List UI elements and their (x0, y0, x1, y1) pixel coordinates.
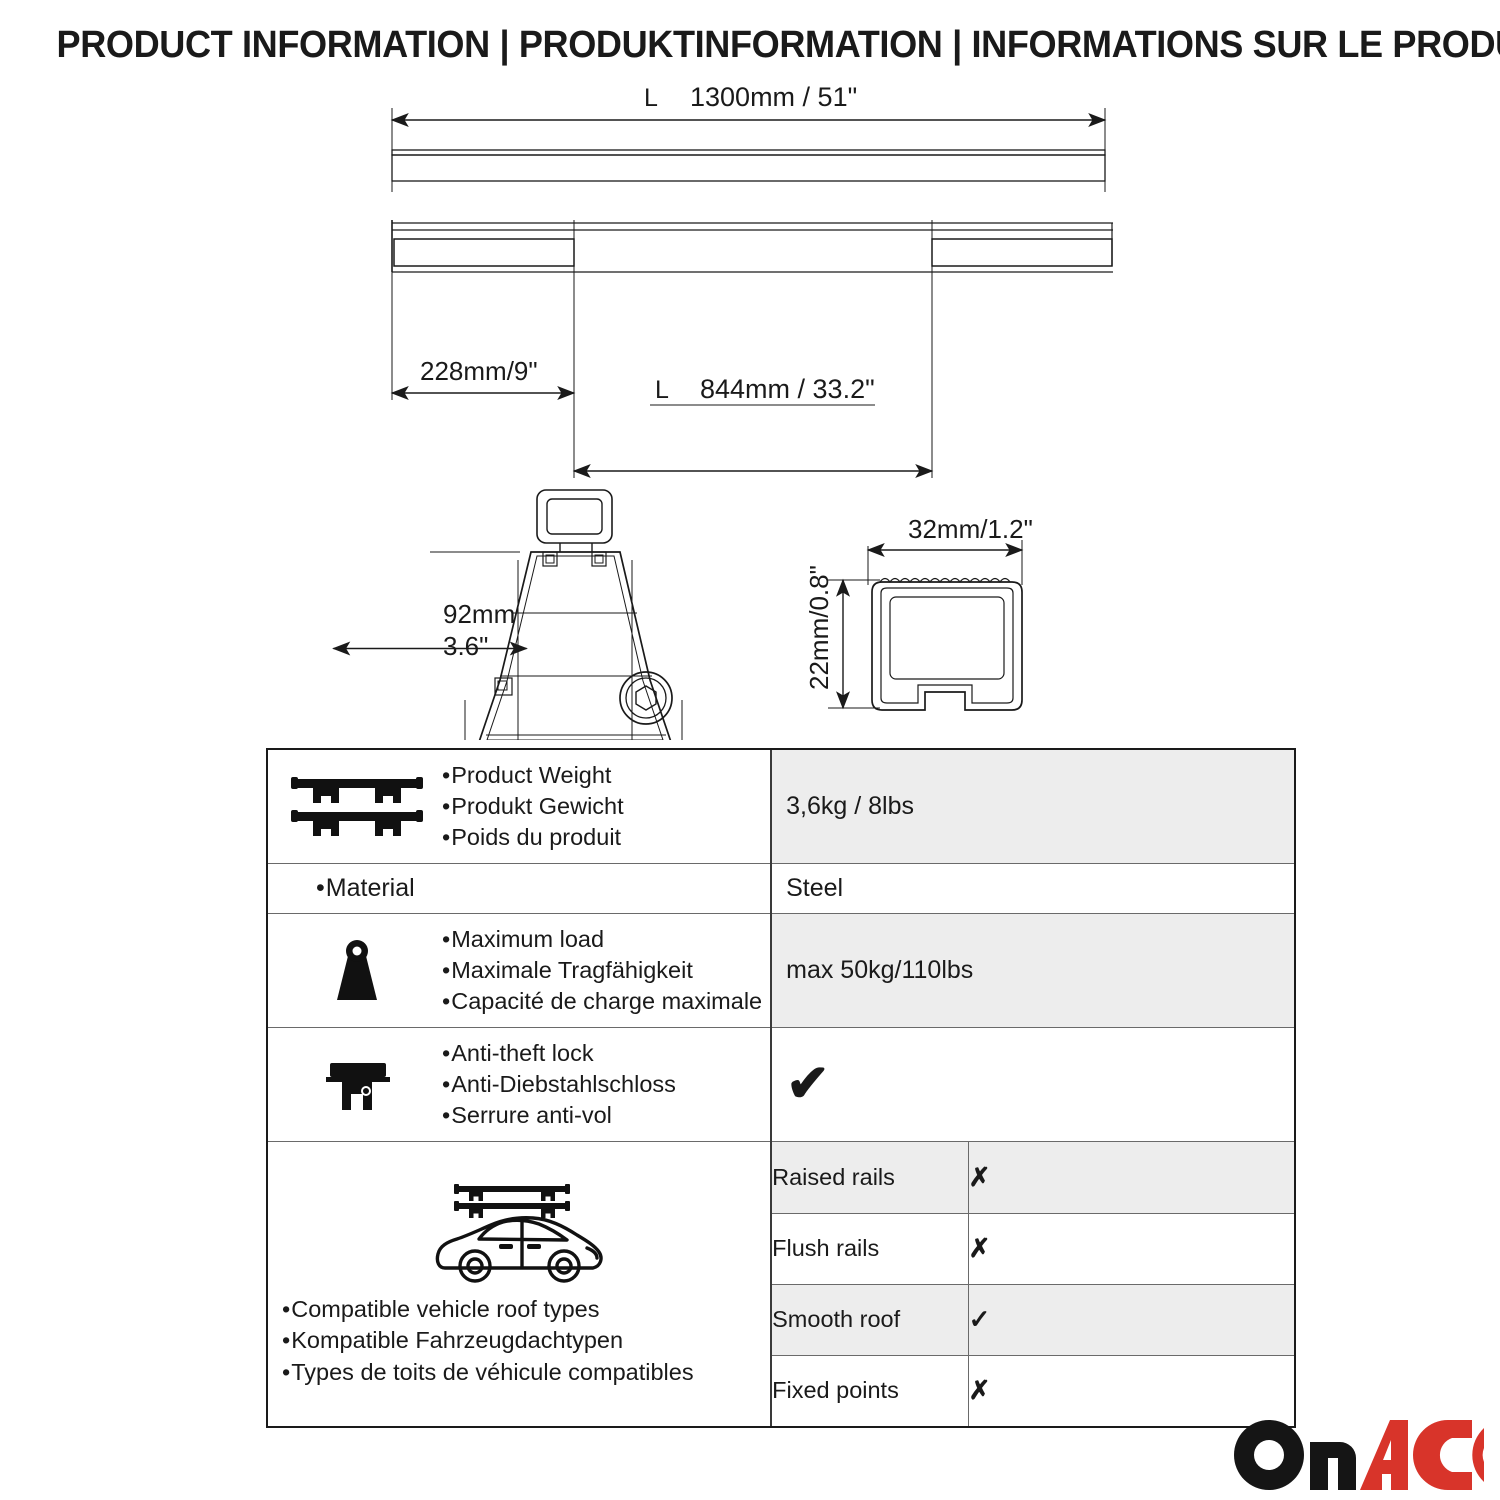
spec-value-maxload: max 50kg/110lbs (771, 914, 1294, 1028)
subtable-row: Raised rails ✗ (772, 1142, 1294, 1213)
subtable-row: Fixed points ✗ (772, 1355, 1294, 1426)
spec-label-fr: Poids du produit (442, 822, 624, 853)
lock-icon (282, 1057, 432, 1113)
spec-label-list-lock: Anti-theft lock Anti-Diebstahlschloss Se… (442, 1038, 676, 1131)
omac-logo-dark-part (1234, 1420, 1356, 1490)
spec-label-de: Produkt Gewicht (442, 791, 624, 822)
page-title-text: PRODUCT INFORMATION | PRODUKTINFORMATION… (57, 24, 1444, 67)
spec-label-cell-maxload: Maximum load Maximale Tragfähigkeit Capa… (268, 914, 771, 1028)
spec-value-weight: 3,6kg / 8lbs (771, 750, 1294, 864)
crossbars-icon (282, 775, 432, 839)
spec-label-fr: Serrure anti-vol (442, 1100, 676, 1131)
spec-label-fr: Capacité de charge maximale (442, 986, 762, 1017)
spec-label-list-maxload: Maximum load Maximale Tragfähigkeit Capa… (442, 924, 762, 1017)
foot-height-dim-line2: 3.6" (443, 631, 488, 661)
roof-type-name: Raised rails (772, 1142, 968, 1213)
specification-table: Product Weight Produkt Gewicht Poids du … (266, 748, 1296, 1428)
table-row: Compatible vehicle roof types Kompatible… (268, 1142, 1294, 1427)
roof-type-name: Smooth roof (772, 1284, 968, 1355)
spec-label-de: Kompatible Fahrzeugdachtypen (282, 1325, 694, 1356)
span-dim-label: L (655, 376, 669, 404)
roof-type-name: Flush rails (772, 1213, 968, 1284)
foot-offset-dim-value: 228mm/9" (420, 356, 538, 386)
spec-label-cell-material: Material (268, 864, 771, 914)
page-title: PRODUCT INFORMATION | PRODUKTINFORMATION… (0, 24, 1500, 67)
spec-label-de: Maximale Tragfähigkeit (442, 955, 762, 986)
table-row: Product Weight Produkt Gewicht Poids du … (268, 750, 1294, 864)
spec-label-en: Product Weight (442, 760, 624, 791)
spec-label-material: Material (282, 874, 762, 903)
table-row: Maximum load Maximale Tragfähigkeit Capa… (268, 914, 1294, 1028)
omac-logo-accent-part (1360, 1420, 1484, 1490)
spec-label-cell-rooftypes: Compatible vehicle roof types Kompatible… (268, 1142, 771, 1427)
profile-height-dim-value: 22mm/0.8" (804, 565, 834, 690)
roof-type-value-cross-icon: ✗ (968, 1213, 1294, 1284)
check-mark-icon: ✔ (786, 1061, 830, 1108)
drawing-svg: L 1300mm / 51" 228mm/9" L 844mm / 33.2" … (0, 80, 1500, 740)
subtable-row: Flush rails ✗ (772, 1213, 1294, 1284)
table-row: Anti-theft lock Anti-Diebstahlschloss Se… (268, 1028, 1294, 1142)
roof-type-value-check-icon: ✓ (968, 1284, 1294, 1355)
roof-type-value-cross-icon: ✗ (968, 1142, 1294, 1213)
spec-value-lock: ✔ (771, 1028, 1294, 1142)
spec-label-list-rooftypes: Compatible vehicle roof types Kompatible… (282, 1294, 694, 1388)
roof-type-name: Fixed points (772, 1355, 968, 1426)
spec-label-de: Anti-Diebstahlschloss (442, 1069, 676, 1100)
product-information-page: PRODUCT INFORMATION | PRODUKTINFORMATION… (0, 0, 1500, 1500)
foot-height-dim-line1: 92mm (443, 599, 515, 629)
weight-icon (282, 938, 432, 1004)
omac-logo-svg (1232, 1418, 1484, 1492)
spec-label-cell-lock: Anti-theft lock Anti-Diebstahlschloss Se… (268, 1028, 771, 1142)
profile-width-dim-value: 32mm/1.2" (908, 514, 1033, 544)
table-row: Material Steel (268, 864, 1294, 914)
spec-label-list-weight: Product Weight Produkt Gewicht Poids du … (442, 760, 624, 853)
spec-label-en: Anti-theft lock (442, 1038, 676, 1069)
car-with-roofbars-icon (282, 1176, 762, 1288)
bar-length-dim-label: L (644, 84, 658, 112)
omac-logo (1232, 1418, 1484, 1492)
subtable-row: Smooth roof ✓ (772, 1284, 1294, 1355)
spec-label-fr: Types de toits de véhicule compatibles (282, 1357, 694, 1388)
span-dim-value: 844mm / 33.2" (700, 374, 875, 404)
roof-type-value-cross-icon: ✗ (968, 1355, 1294, 1426)
roof-types-subtable-cell: Raised rails ✗ Flush rails ✗ Smooth roof… (771, 1142, 1294, 1427)
bar-length-dim-value: 1300mm / 51" (690, 82, 857, 112)
spec-label-cell-weight: Product Weight Produkt Gewicht Poids du … (268, 750, 771, 864)
roof-types-subtable: Raised rails ✗ Flush rails ✗ Smooth roof… (772, 1142, 1294, 1426)
spec-label-en: Maximum load (442, 924, 762, 955)
spec-label-en: Compatible vehicle roof types (282, 1294, 694, 1325)
technical-drawing: L 1300mm / 51" 228mm/9" L 844mm / 33.2" … (0, 80, 1500, 740)
spec-value-material: Steel (771, 864, 1294, 914)
